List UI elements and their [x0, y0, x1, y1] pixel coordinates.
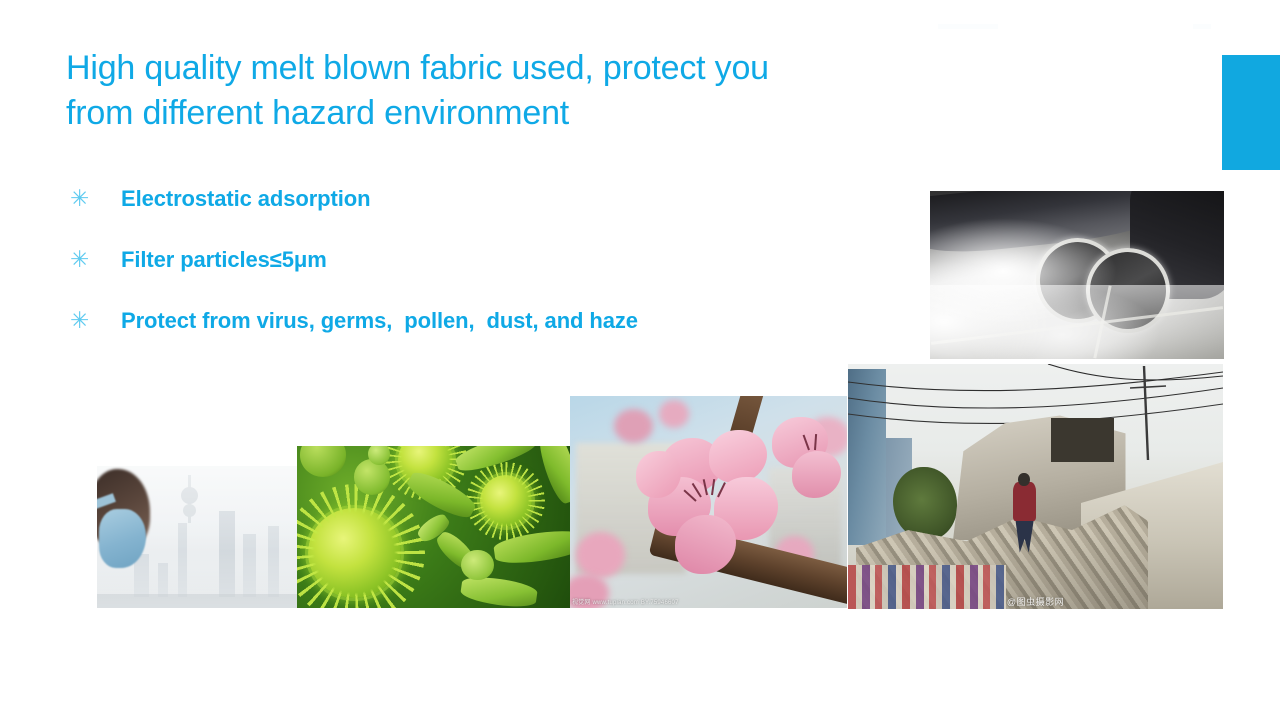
list-item: ✳ Protect from virus, germs, pollen, dus… [66, 307, 886, 336]
list-item: ✳ Filter particles≤5μm [66, 246, 886, 275]
smog-background [97, 466, 300, 608]
bullet-text-protect-from-virus: Protect from virus, germs, pollen, dust,… [121, 307, 638, 334]
background-blossom [614, 409, 653, 443]
coccus-cell [354, 459, 389, 495]
stamen [711, 479, 715, 495]
smoke-plume [930, 204, 1165, 359]
green-bacteria-virus-microscopy-photo [297, 446, 570, 608]
hanging-laundry-shape [848, 565, 1006, 609]
list-item: ✳ Electrostatic adsorption [66, 185, 886, 214]
slide-title: High quality melt blown fabric used, pro… [66, 46, 1026, 136]
bullet-text-electrostatic-adsorption: Electrostatic adsorption [121, 185, 370, 212]
bullet-list: ✳ Electrostatic adsorption ✳ Filter part… [66, 185, 886, 368]
blossom-petal [709, 430, 767, 483]
top-artifact-left [938, 24, 998, 29]
asterisk-bullet-icon: ✳ [66, 185, 121, 212]
asterisk-bullet-icon: ✳ [66, 307, 121, 334]
person-head-shape [1018, 473, 1029, 486]
stock-photo-watermark: 视觉网 www.tupian.com BY.75946607 [572, 600, 679, 607]
blossom-background: 视觉网 www.tupian.com BY.75946607 [570, 396, 847, 608]
germs-background [297, 446, 570, 608]
asterisk-bullet-icon: ✳ [66, 246, 121, 273]
background-blossom [659, 400, 689, 428]
coccus-cell [461, 550, 494, 581]
coccus-cell [300, 446, 346, 477]
rubble-background: @图虫摄影网 [848, 364, 1223, 609]
spiky-virus-large [308, 508, 401, 599]
bullet-text-filter-particles: Filter particles≤5μm [121, 246, 327, 273]
tree-shape [893, 467, 957, 541]
accent-bar [1222, 55, 1280, 170]
spiky-virus-right [480, 475, 532, 527]
exhaust-background [930, 191, 1224, 359]
masked-person-smog-skyline-photo [97, 466, 300, 608]
top-artifact-right [1193, 24, 1211, 29]
person-body-shape [1013, 482, 1036, 521]
exposed-interior-shape [1051, 418, 1115, 462]
car-exhaust-smoke-photo [930, 191, 1224, 359]
weibo-watermark: @图虫摄影网 [1007, 597, 1064, 608]
demolition-rubble-dust-photo: @图虫摄影网 [848, 364, 1223, 609]
slide-canvas: High quality melt blown fabric used, pro… [0, 0, 1280, 720]
pink-peach-blossom-photo: 视觉网 www.tupian.com BY.75946607 [570, 396, 847, 608]
